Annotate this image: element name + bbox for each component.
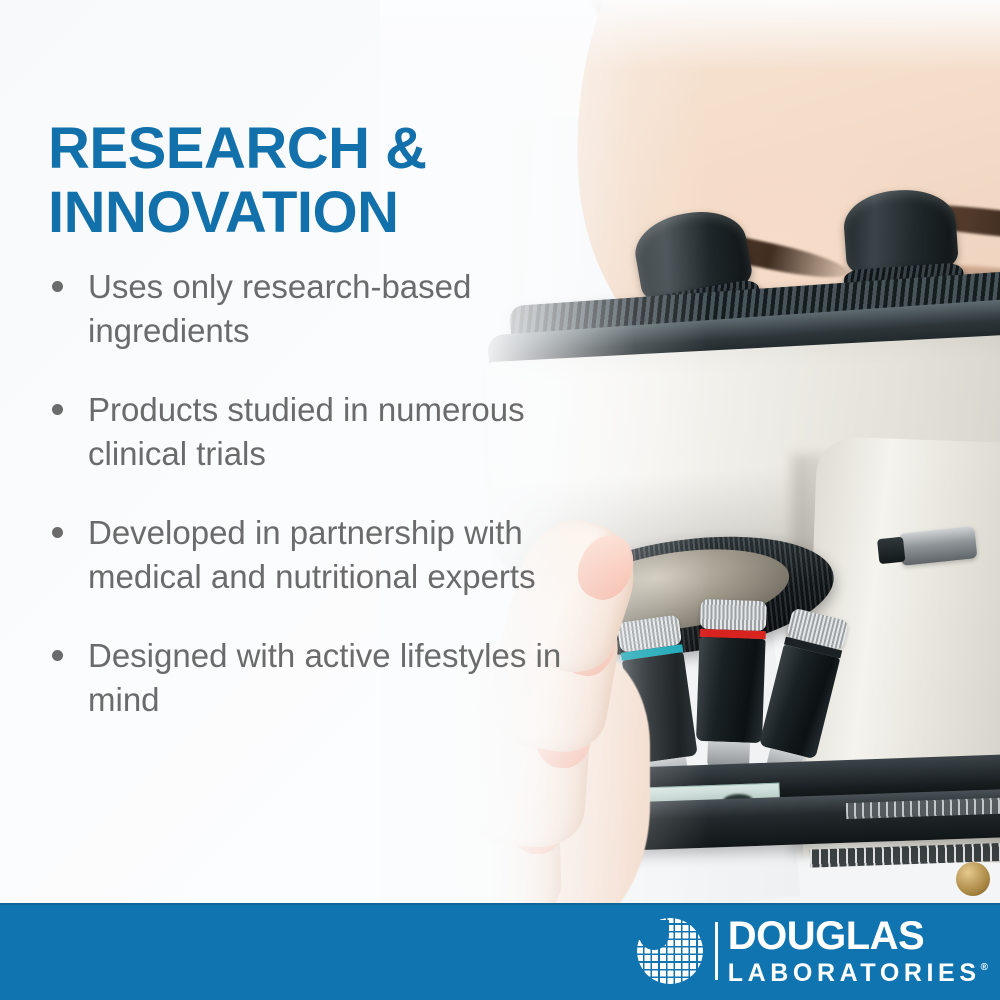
logo-subname: LABORATORIES® (728, 961, 988, 986)
list-item-label: Uses only research-based ingredients (88, 268, 471, 349)
objective-lens-red (695, 599, 767, 769)
slide-canvas: RESEARCH & INNOVATION Uses only research… (0, 0, 1000, 1000)
bullet-dot-icon (52, 527, 63, 538)
list-item-label: Products studied in numerous clinical tr… (88, 391, 525, 472)
list-item: Uses only research-based ingredients (48, 265, 568, 352)
logo-subname-text: LABORATORIES (728, 959, 981, 987)
douglas-laboratories-logo[interactable]: DOUGLAS LABORATORIES® (637, 912, 988, 990)
bullet-dot-icon (52, 650, 63, 661)
logo-divider (715, 922, 718, 980)
logo-wordmark: DOUGLAS LABORATORIES® (728, 916, 988, 986)
microscope-brass-screw (956, 862, 990, 896)
feature-list: Uses only research-based ingredients Pro… (48, 265, 568, 721)
bullet-dot-icon (52, 404, 63, 415)
page-title-line-1: RESEARCH & (48, 116, 427, 181)
list-item-label: Designed with active lifestyles in mind (88, 637, 561, 718)
page-title-line-2: INNOVATION (48, 180, 399, 245)
footer-top-hairline (0, 903, 1000, 905)
logo-notch (639, 920, 669, 950)
bullet-dot-icon (52, 281, 63, 292)
footer-bar: DOUGLAS LABORATORIES® (0, 903, 1000, 1000)
objective-tube (696, 637, 766, 743)
list-item-label: Developed in partnership with medical an… (88, 514, 536, 595)
objective-knurl (700, 599, 767, 631)
douglas-grid-circle-icon (637, 918, 703, 984)
registered-trademark-icon: ® (981, 962, 988, 973)
list-item: Developed in partnership with medical an… (48, 511, 568, 598)
list-item: Products studied in numerous clinical tr… (48, 388, 568, 475)
logo-name: DOUGLAS (728, 916, 988, 956)
list-item: Designed with active lifestyles in mind (48, 634, 568, 721)
page-title: RESEARCH & INNOVATION (48, 117, 518, 245)
